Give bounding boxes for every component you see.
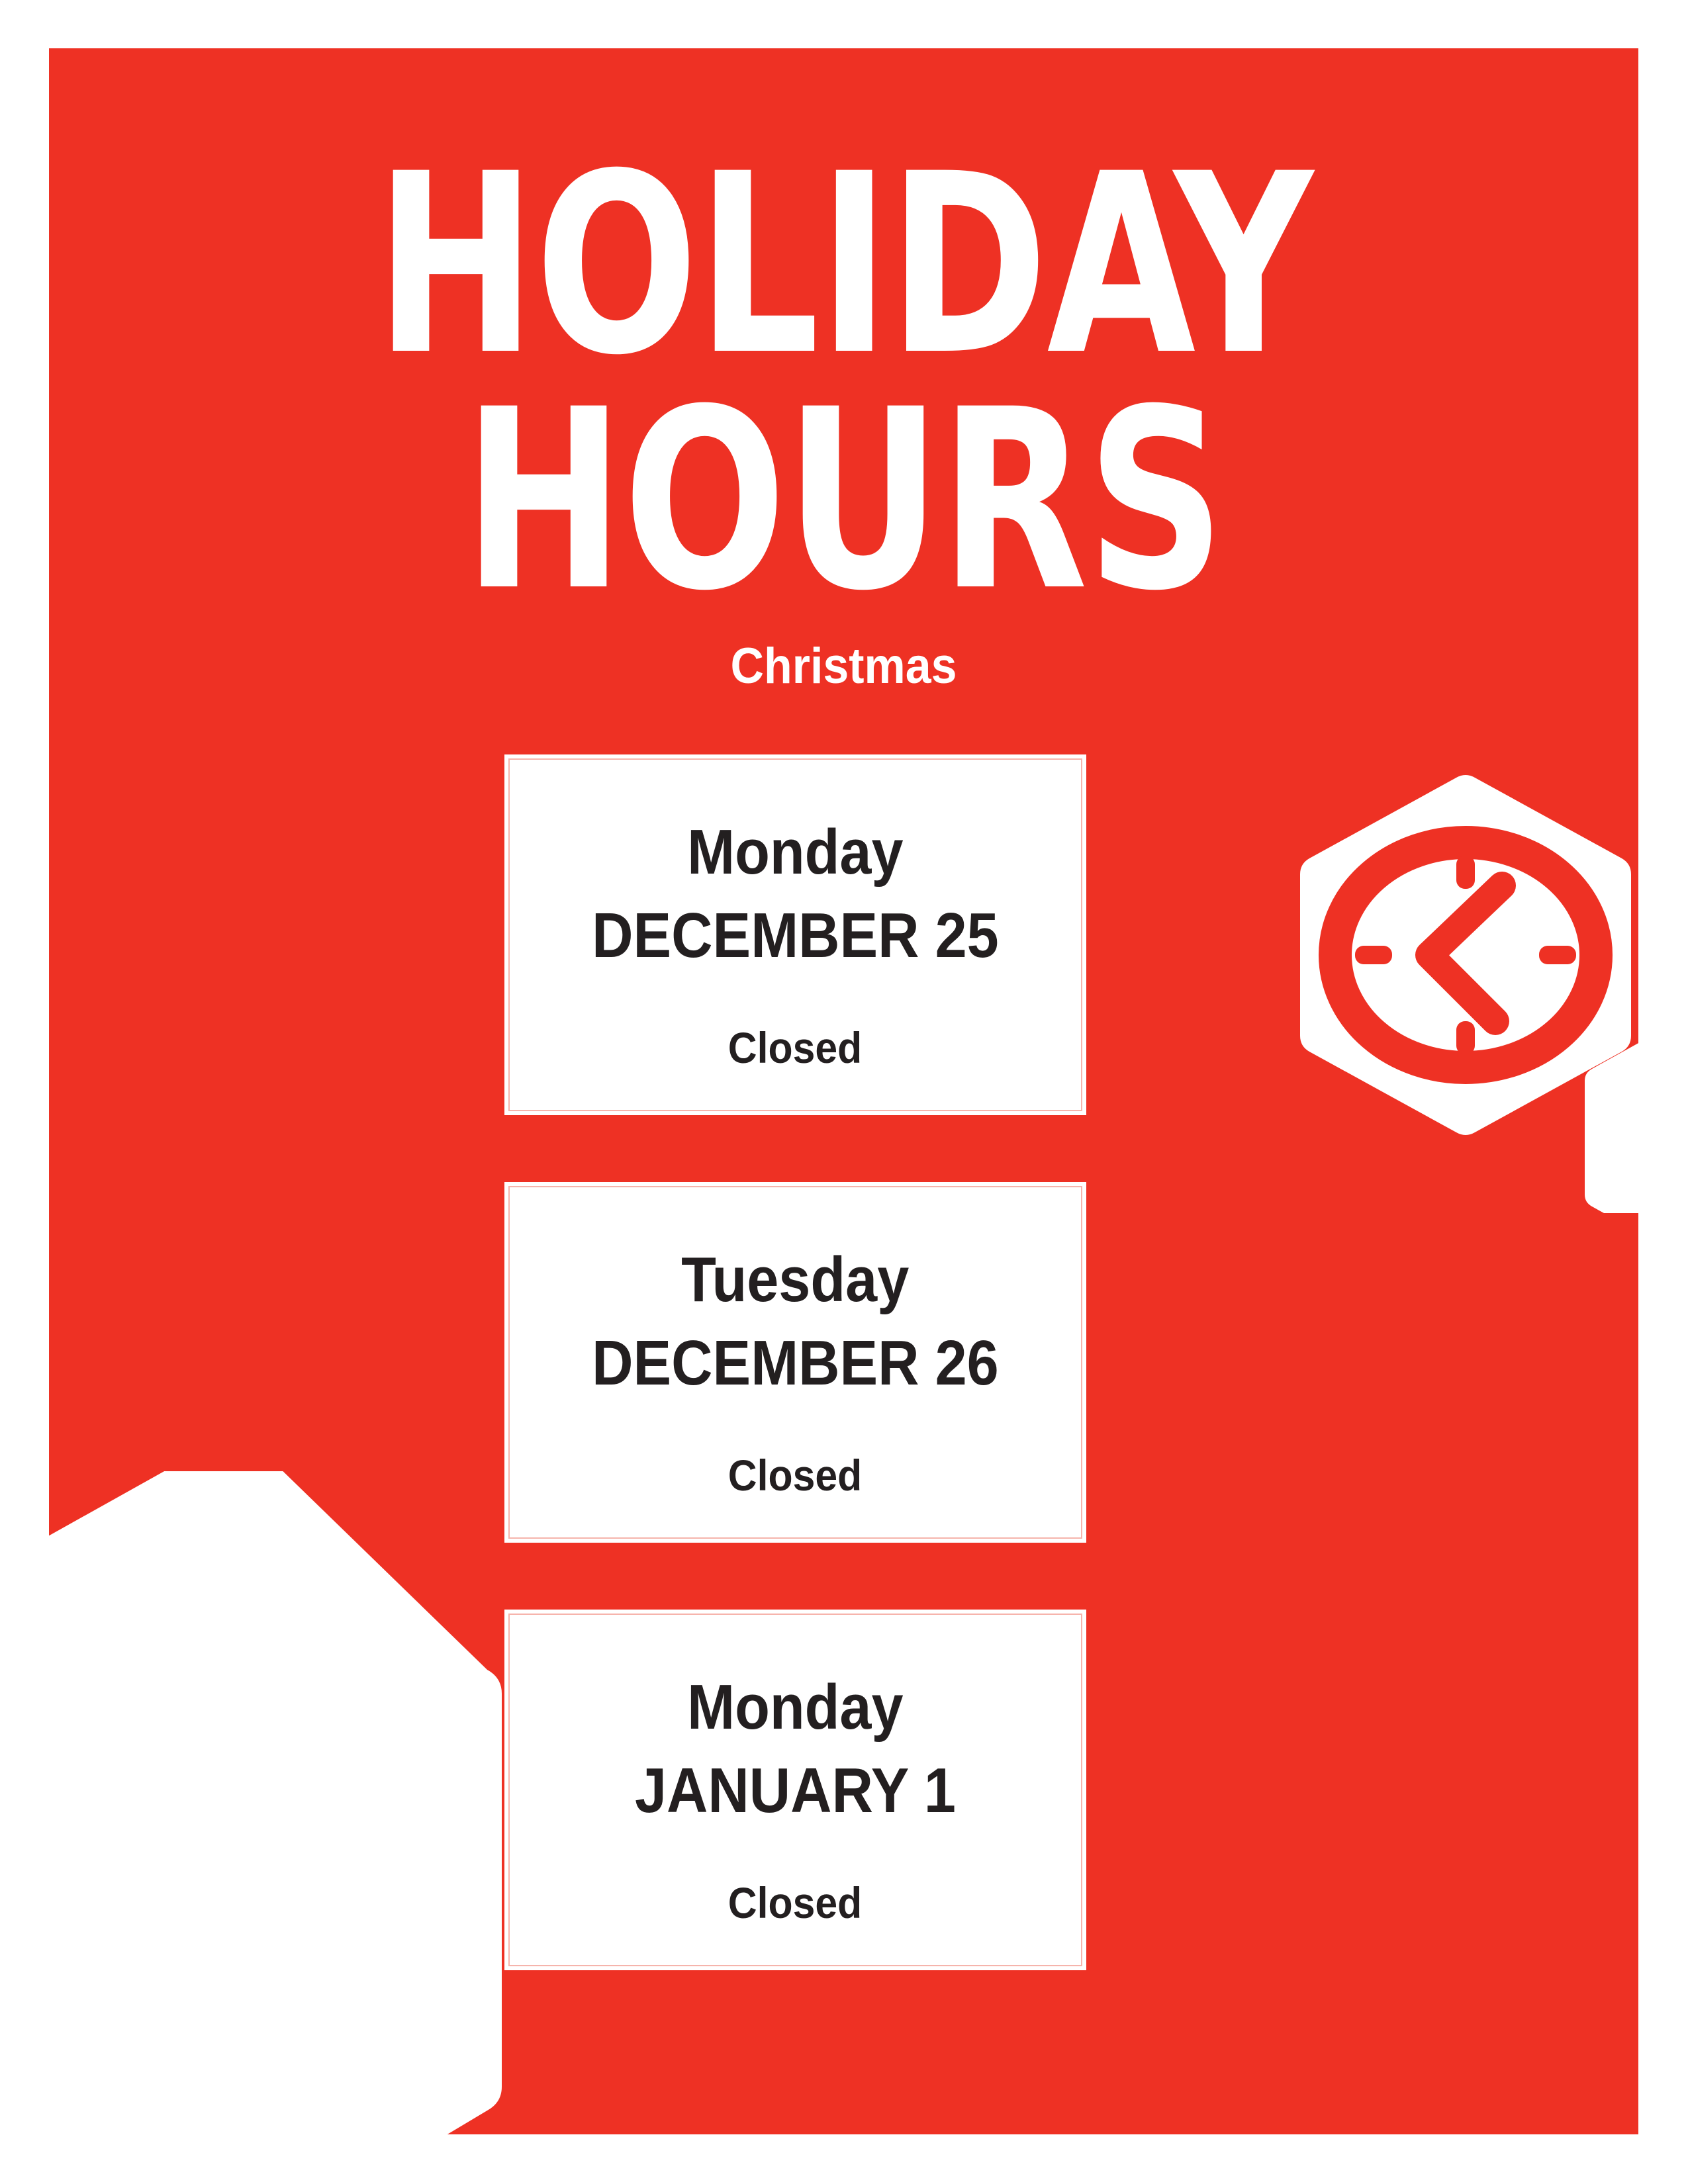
small-hexagon-accent [1585, 1010, 1638, 1213]
schedule-card-inner: Monday JANUARY 1 Closed [508, 1614, 1082, 1966]
clock-tick-12 [1456, 856, 1475, 889]
schedule-card[interactable]: Monday JANUARY 1 Closed [504, 1610, 1086, 1970]
schedule-card-inner: Tuesday DECEMBER 26 Closed [508, 1186, 1082, 1539]
title-line-2: HOURS [160, 383, 1527, 619]
hexagon-shape [49, 1471, 502, 2134]
holiday-hours-poster: HOLIDAY HOURS Christmas [0, 0, 1688, 2184]
schedule-date: DECEMBER 26 [592, 1332, 999, 1395]
schedule-date: DECEMBER 25 [592, 904, 999, 968]
schedule-day: Monday [687, 1676, 903, 1739]
clock-tick-3 [1539, 946, 1576, 964]
corner-hexagon-accent [49, 1471, 539, 2134]
schedule-status: Closed [728, 1026, 862, 1069]
clock-hexagon-icon [1201, 737, 1638, 1213]
schedule-card-inner: Monday DECEMBER 25 Closed [508, 758, 1082, 1111]
clock-hands [1429, 886, 1502, 1021]
title-line-1: HOLIDAY [160, 148, 1527, 383]
schedule-date: JANUARY 1 [635, 1759, 956, 1823]
poster-subtitle: Christmas [113, 637, 1575, 695]
schedule-day: Tuesday [681, 1248, 909, 1312]
schedule-status: Closed [728, 1453, 862, 1497]
schedule-day: Monday [687, 821, 903, 884]
clock-ring [1335, 842, 1596, 1068]
page-title: HOLIDAY HOURS [49, 148, 1638, 619]
hexagon-shape [1300, 775, 1631, 1135]
clock-tick-6 [1456, 1021, 1475, 1054]
clock-tick-9 [1355, 946, 1392, 964]
schedule-card[interactable]: Tuesday DECEMBER 26 Closed [504, 1182, 1086, 1543]
clock-hexagon-svg [1201, 737, 1638, 1213]
schedule-status: Closed [728, 1881, 862, 1925]
schedule-card[interactable]: Monday DECEMBER 25 Closed [504, 754, 1086, 1115]
corner-hexagon-svg [49, 1471, 539, 2134]
